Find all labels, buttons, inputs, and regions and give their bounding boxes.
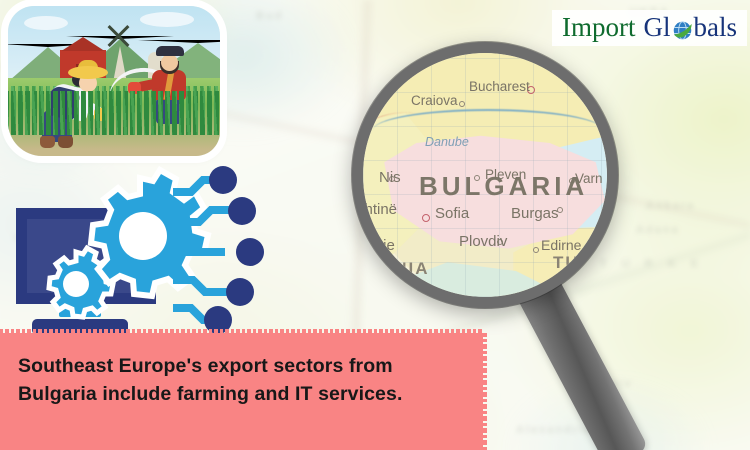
farmer-boot — [58, 136, 73, 148]
map-label-fyrom: A.) — [401, 281, 426, 297]
map-label-varna: Varn — [575, 171, 603, 186]
map-label-prishtine: shtinë — [363, 201, 397, 218]
map-label-pleven: Pleven — [485, 167, 526, 182]
farming-illustration — [8, 6, 220, 156]
map-label-skopje: kopje — [363, 237, 395, 254]
map-label-plovdiv: Plovdiv — [459, 233, 507, 250]
caption-line-1: Southeast Europe's export sectors from — [18, 355, 393, 377]
globe-icon — [672, 19, 693, 40]
map-label-edirne: Edirne — [541, 237, 581, 253]
circuit-node — [226, 278, 254, 306]
map-label-bucharest: Bucharest — [469, 79, 530, 94]
magnifying-glass[interactable]: BULGARIA TURK ONIA A.) Bucharest Craiova… — [352, 42, 618, 308]
map-label-danube: Danube — [425, 135, 469, 149]
logo-word-import: Import — [562, 14, 636, 41]
city-dot-craiova — [459, 101, 465, 107]
farmer-hat — [156, 46, 184, 56]
logo-word-gl: Gl — [644, 14, 671, 41]
map-label-burgas: Burgas — [511, 205, 559, 222]
magnifier-ring: BULGARIA TURK ONIA A.) Bucharest Craiova… — [352, 42, 618, 308]
windmill-icon — [104, 22, 132, 50]
crop-row-front — [8, 91, 220, 135]
it-services-svg — [4, 166, 272, 346]
city-dot-edirne — [533, 247, 539, 253]
cloud-icon — [24, 16, 68, 30]
farmer-straw-hat — [68, 66, 108, 79]
city-dot-sofia — [422, 214, 430, 222]
circuit-node — [236, 238, 264, 266]
map-label-turkey: TURK — [553, 253, 607, 273]
farmer-boot — [40, 136, 55, 148]
map-label-macedonia: ONIA — [379, 259, 430, 279]
brand-logo[interactable]: Import Gl bals — [552, 10, 747, 46]
it-services-illustration — [4, 166, 272, 346]
cloud-icon — [140, 12, 194, 27]
magnifier-lens: BULGARIA TURK ONIA A.) Bucharest Craiova… — [363, 53, 607, 297]
logo-word-bals: bals — [694, 14, 738, 41]
caption-line-2: Bulgaria include farming and IT services… — [18, 381, 402, 409]
caption-banner: Southeast Europe's export sectors from B… — [0, 333, 483, 450]
farmer-head — [161, 54, 178, 71]
infographic-canvas: UKRA ITALY Tel Aviv Alexandria Ankara Ad… — [0, 0, 750, 450]
map-label-craiova: Craiova — [411, 93, 458, 108]
circuit-node — [209, 166, 237, 194]
map-label-nis: Nis — [379, 169, 401, 186]
caption-text: Southeast Europe's export sectors from B… — [0, 353, 420, 430]
map-label-sofia: Sofia — [435, 205, 469, 222]
circuit-node — [228, 197, 256, 225]
